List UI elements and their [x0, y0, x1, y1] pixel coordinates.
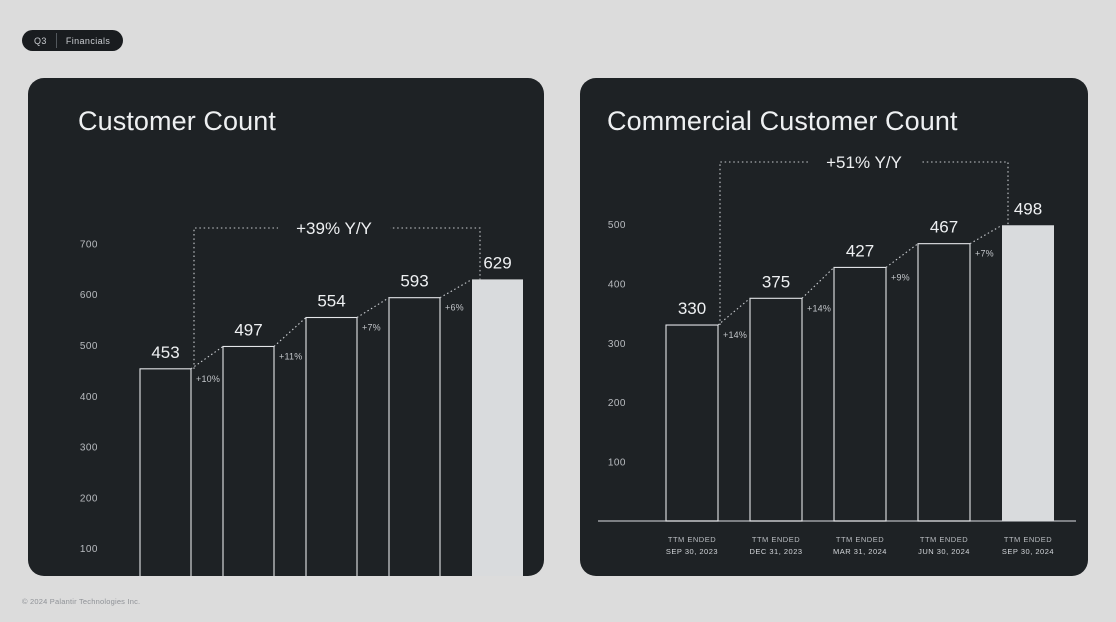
bar-3 — [389, 298, 440, 576]
bar-value-label-2: 427 — [846, 241, 874, 260]
x-axis-category-line2-0: SEP 30, 2023 — [666, 547, 718, 556]
slide: Q3 Financials Customer Count 70060050040… — [0, 0, 1116, 622]
x-axis-category-line1-1: TTM ENDED — [752, 535, 800, 544]
bar-value-label-0: 330 — [678, 299, 706, 318]
y-axis-tick-500: 500 — [608, 220, 626, 231]
growth-label-3: +7% — [975, 249, 994, 259]
y-axis-tick-300: 300 — [608, 339, 626, 350]
y-axis-tick-300: 300 — [80, 443, 98, 454]
bar-value-label-0: 453 — [151, 343, 179, 362]
y-axis-tick-400: 400 — [608, 279, 626, 290]
y-axis-tick-200: 200 — [608, 398, 626, 409]
bar-4 — [1002, 225, 1054, 521]
x-axis-category-line1-0: TTM ENDED — [668, 535, 716, 544]
y-axis-tick-400: 400 — [80, 392, 98, 403]
growth-connector-3 — [440, 279, 472, 297]
bar-value-label-3: 593 — [400, 272, 428, 291]
x-axis-category-line1-2: TTM ENDED — [836, 535, 884, 544]
customer-count-chart: 700600500400300200100453497554593629+10%… — [28, 78, 544, 576]
bar-1 — [223, 346, 274, 576]
chart-card-customer-count: Customer Count 7006005004003002001004534… — [28, 78, 544, 576]
growth-connector-3 — [970, 225, 1002, 243]
badge-label: Financials — [57, 30, 124, 51]
badge-quarter: Q3 — [22, 30, 56, 51]
chart-card-commercial-customer-count: Commercial Customer Count 50040030020010… — [580, 78, 1088, 576]
section-badge: Q3 Financials — [22, 30, 123, 51]
y-axis-tick-600: 600 — [80, 290, 98, 301]
bar-4 — [472, 279, 523, 576]
x-axis-category-line2-2: MAR 31, 2024 — [833, 547, 887, 556]
growth-connector-0 — [718, 298, 750, 325]
bar-value-label-1: 497 — [234, 320, 262, 339]
growth-label-3: +6% — [445, 303, 464, 313]
bar-value-label-1: 375 — [762, 272, 790, 291]
bar-0 — [140, 369, 191, 576]
growth-label-1: +11% — [279, 351, 302, 361]
growth-label-1: +14% — [807, 303, 831, 313]
footer-copyright: © 2024 Palantir Technologies Inc. — [22, 597, 140, 606]
bar-value-label-4: 498 — [1014, 199, 1042, 218]
growth-connector-2 — [357, 298, 389, 318]
yoy-label: +39% Y/Y — [296, 219, 372, 238]
growth-label-2: +9% — [891, 272, 910, 282]
bar-value-label-2: 554 — [317, 292, 345, 311]
bar-3 — [918, 244, 970, 521]
growth-connector-1 — [802, 267, 834, 298]
y-axis-tick-100: 100 — [608, 458, 626, 469]
x-axis-category-line2-3: JUN 30, 2024 — [918, 547, 970, 556]
y-axis-tick-700: 700 — [80, 239, 98, 250]
growth-label-0: +10% — [196, 374, 220, 384]
commercial-customer-count-chart: 500400300200100330375427467498+14%+14%+9… — [580, 78, 1088, 576]
x-axis-category-line1-4: TTM ENDED — [1004, 535, 1052, 544]
growth-label-0: +14% — [723, 330, 747, 340]
growth-label-2: +7% — [362, 323, 381, 333]
bar-1 — [750, 298, 802, 521]
x-axis-category-line2-4: SEP 30, 2024 — [1002, 547, 1054, 556]
y-axis-tick-100: 100 — [80, 544, 98, 555]
growth-connector-1 — [274, 318, 306, 347]
bar-2 — [306, 318, 357, 576]
growth-connector-0 — [191, 346, 223, 368]
bar-value-label-4: 629 — [483, 253, 511, 272]
bar-value-label-3: 467 — [930, 218, 958, 237]
growth-connector-2 — [886, 244, 918, 268]
yoy-label: +51% Y/Y — [826, 153, 902, 172]
x-axis-category-line2-1: DEC 31, 2023 — [749, 547, 802, 556]
bar-2 — [834, 267, 886, 521]
x-axis-category-line1-3: TTM ENDED — [920, 535, 968, 544]
bar-0 — [666, 325, 718, 521]
y-axis-tick-500: 500 — [80, 341, 98, 352]
y-axis-tick-200: 200 — [80, 493, 98, 504]
